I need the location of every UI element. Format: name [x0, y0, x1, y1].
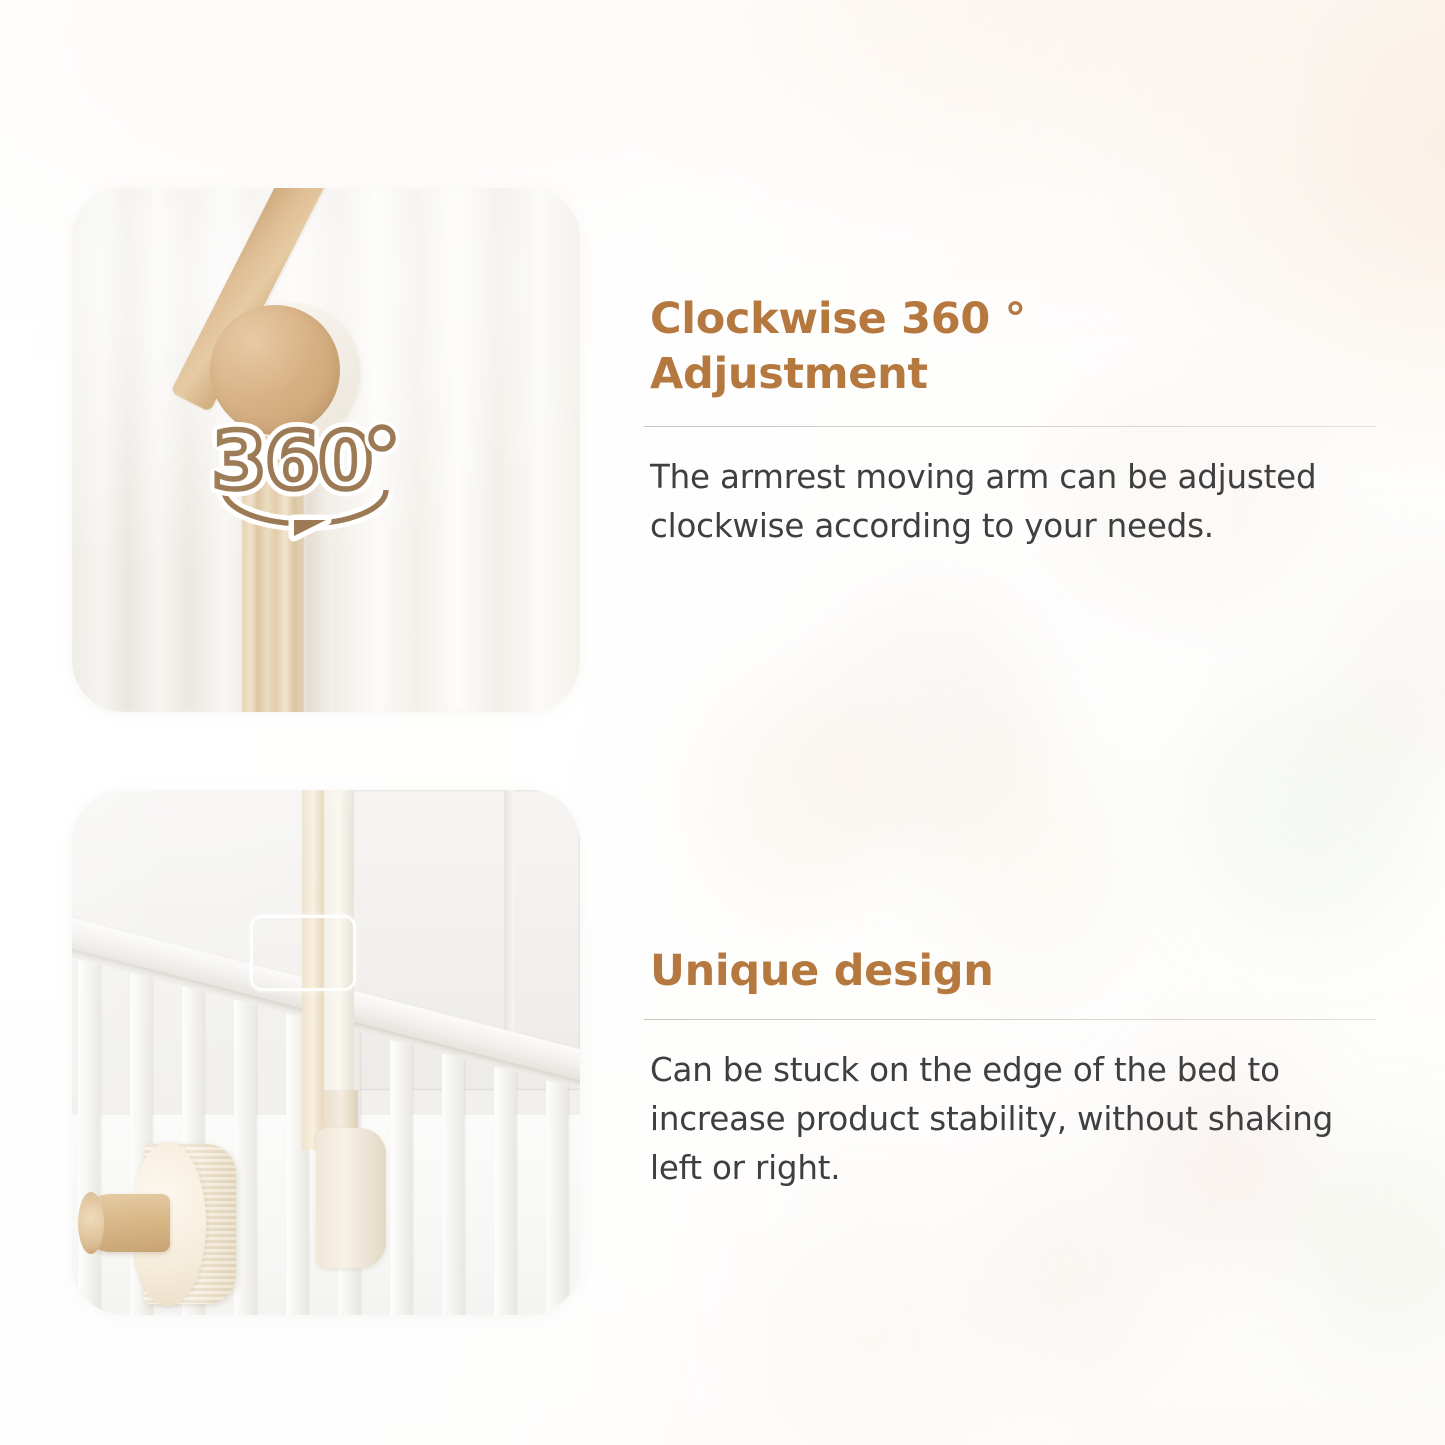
clamp-dowel-peg-cap [78, 1192, 104, 1254]
clamp-disc-rear [316, 1128, 386, 1268]
svg-text:360: 360 [212, 417, 372, 507]
infographic-page: 360 360 Clockwise 360 ° Adjustment The a… [0, 0, 1445, 1445]
feature-description: Can be stuck on the edge of the bed to i… [650, 1046, 1376, 1192]
feature-title-line1: Clockwise 360 ° [650, 294, 1026, 344]
title-divider [644, 1019, 1376, 1020]
highlight-box-icon [250, 915, 356, 991]
crib-edge-clamp-photo [72, 790, 580, 1315]
feature-block-unique-design: Unique design Can be stuck on the edge o… [650, 944, 1376, 1192]
feature-title-line1: Unique design [650, 946, 994, 996]
title-divider [644, 426, 1376, 427]
feature-title-line2: Adjustment [650, 349, 928, 399]
rotating-arm-joint-photo: 360 360 [72, 188, 580, 712]
feature-title: Unique design [650, 944, 1376, 999]
feature-title: Clockwise 360 ° Adjustment [650, 292, 1376, 402]
feature-description: The armrest moving arm can be adjusted c… [650, 453, 1376, 551]
feature-block-clockwise-rotation: Clockwise 360 ° Adjustment The armrest m… [650, 292, 1376, 551]
rotation-arrow-icon: 360 360 [190, 416, 420, 551]
